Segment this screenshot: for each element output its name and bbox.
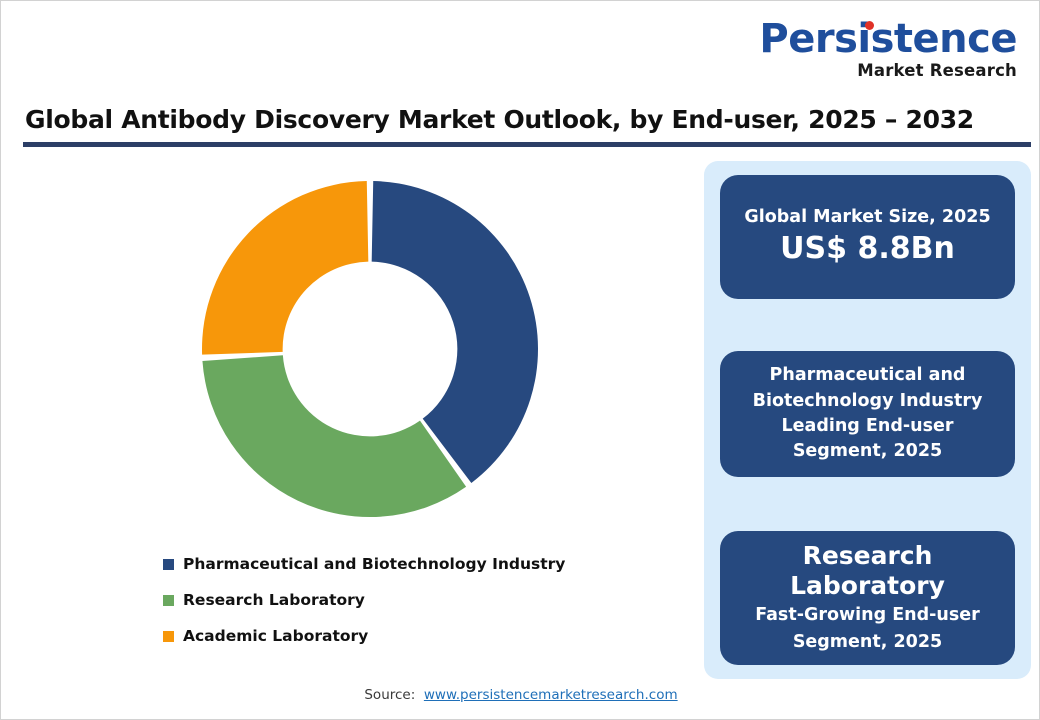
donut-slice <box>202 355 466 517</box>
card-headline-line-2: Laboratory <box>790 571 945 601</box>
card-value-text: US$ 8.8Bn <box>780 231 955 267</box>
legend-item-label: Academic Laboratory <box>183 627 368 645</box>
infographic-page: Persistence Market Research Global Antib… <box>0 0 1040 720</box>
legend-swatch-icon <box>163 559 174 570</box>
company-logo: Persistence Market Research <box>759 19 1017 80</box>
legend-item-academic-laboratory: Academic Laboratory <box>163 618 683 654</box>
legend-swatch-icon <box>163 631 174 642</box>
chart-legend: Pharmaceutical and Biotechnology Industr… <box>163 546 683 654</box>
card-global-market-size: Global Market Size, 2025 US$ 8.8Bn <box>720 175 1015 299</box>
donut-slice <box>202 181 368 355</box>
donut-chart-graphic <box>200 179 540 519</box>
donut-chart-svg <box>200 179 540 519</box>
card-kicker-text: Global Market Size, 2025 <box>744 207 990 229</box>
source-footer: Source: www.persistencemarketresearch.co… <box>1 687 1040 703</box>
card-headline-line-1: Research <box>803 541 933 571</box>
highlights-panel: Global Market Size, 2025 US$ 8.8Bn Pharm… <box>704 161 1031 679</box>
card-leading-segment: Pharmaceutical and Biotechnology Industr… <box>720 351 1015 477</box>
card-line-3: Leading End-user <box>781 414 953 439</box>
legend-swatch-icon <box>163 595 174 606</box>
legend-item-label: Research Laboratory <box>183 591 365 609</box>
legend-item-pharmaceutical-and-biotechnology-industry: Pharmaceutical and Biotechnology Industr… <box>163 546 683 582</box>
page-title: Global Antibody Discovery Market Outlook… <box>25 105 974 134</box>
legend-item-label: Pharmaceutical and Biotechnology Industr… <box>183 555 565 573</box>
card-line-4: Segment, 2025 <box>793 439 942 464</box>
card-line-2: Biotechnology Industry <box>753 389 983 414</box>
card-fastest-growing-segment: Research Laboratory Fast-Growing End-use… <box>720 531 1015 665</box>
logo-brand-text: Persistence <box>759 19 1017 59</box>
card-line-1: Pharmaceutical and <box>770 363 966 388</box>
source-label: Source: <box>364 687 415 703</box>
donut-chart <box>25 161 685 551</box>
card-sub-line-2: Segment, 2025 <box>793 631 942 655</box>
logo-tagline-text: Market Research <box>759 63 1017 80</box>
card-sub-line-1: Fast-Growing End-user <box>755 604 980 628</box>
legend-item-research-laboratory: Research Laboratory <box>163 582 683 618</box>
source-link[interactable]: www.persistencemarketresearch.com <box>424 687 678 703</box>
title-divider <box>23 142 1031 147</box>
